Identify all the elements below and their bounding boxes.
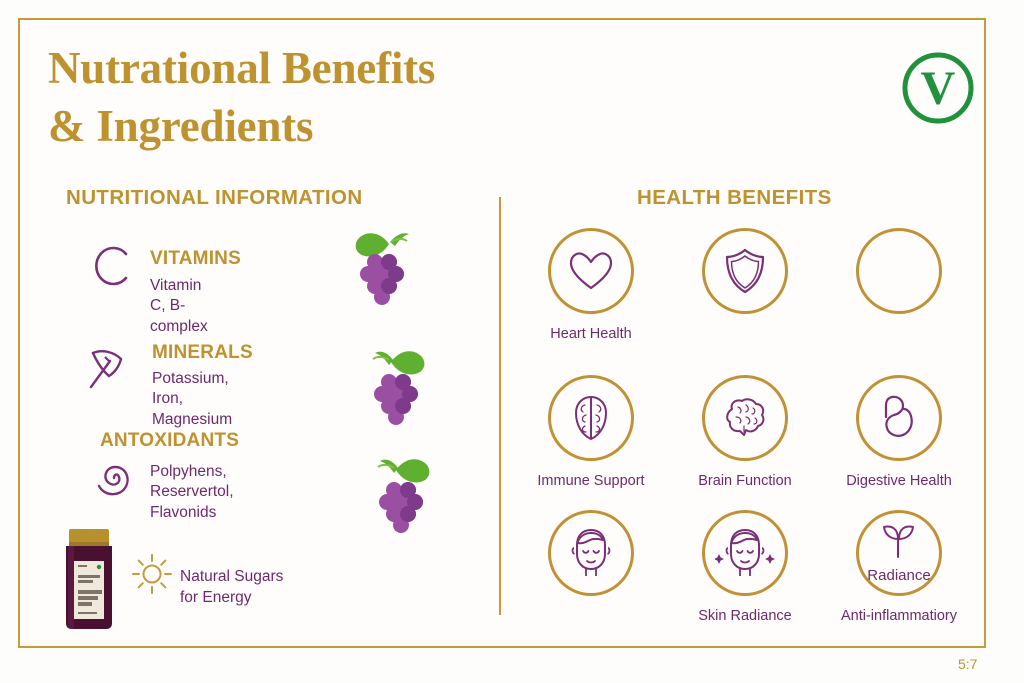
- brain-side-icon: [720, 395, 770, 441]
- benefit-immune-support[interactable]: Immune Support: [531, 375, 651, 489]
- benefit-circle: [702, 375, 788, 461]
- benefit-heart-health[interactable]: Heart Health: [531, 228, 651, 342]
- benefit-label: Anti-inflammatiory: [839, 608, 959, 624]
- spiral-icon: [88, 452, 140, 509]
- page-title-line-1: Nutrational Benefits: [48, 40, 568, 98]
- benefit-label: Immune Support: [531, 473, 651, 489]
- nutritional-information-heading: NUTRITIONAL INFORMATION: [66, 186, 363, 210]
- benefit-label: Heart Health: [531, 326, 651, 342]
- grape-cluster-icon: [363, 340, 435, 431]
- stomach-icon: [878, 393, 920, 443]
- benefit-brain-function[interactable]: Brain Function: [685, 375, 805, 489]
- benefit-inner-label: Radiance: [859, 567, 939, 584]
- benefit-skin-radiance[interactable]: Skin Radiance: [685, 510, 805, 624]
- aspect-ratio-label: 5:7: [958, 656, 977, 672]
- benefit-label: Digestive Health: [839, 473, 959, 489]
- vegan-logo: V: [898, 48, 978, 128]
- benefit-label: Brain Function: [685, 473, 805, 489]
- column-divider: [499, 197, 501, 615]
- leaf-sprout-icon: [879, 521, 919, 559]
- nutrition-desc-minerals: Potassium, Iron, Magnesium: [152, 369, 232, 430]
- benefit-shield[interactable]: [685, 228, 805, 326]
- page-title: Nutrational Benefits & Ingredients: [48, 40, 568, 155]
- grape-cluster-icon: [345, 222, 417, 313]
- benefit-empty[interactable]: [839, 228, 959, 326]
- sun-icon: [130, 552, 174, 601]
- benefit-circle: [548, 375, 634, 461]
- nutrition-title-vitamins: VITAMINS: [150, 248, 241, 270]
- slide-canvas: Nutrational Benefits & Ingredients V NUT…: [0, 0, 1024, 683]
- benefit-label: Skin Radiance: [685, 608, 805, 624]
- benefit-digestive-health[interactable]: Digestive Health: [839, 375, 959, 489]
- benefit-circle: Radiance: [856, 510, 942, 596]
- shield-icon: [723, 247, 767, 295]
- benefit-face[interactable]: [531, 510, 651, 608]
- benefit-anti-inflammatory[interactable]: Radiance Anti-inflammatiory: [839, 510, 959, 624]
- natural-sugars-label: Natural Sugars for Energy: [180, 566, 283, 608]
- letter-c-icon: [88, 240, 140, 297]
- nutrition-title-minerals: MINERALS: [152, 342, 253, 364]
- benefit-circle: [702, 228, 788, 314]
- benefit-circle: [702, 510, 788, 596]
- grape-cluster-icon: [368, 448, 440, 539]
- nutrition-desc-antoxidants: Polpyhens, Reservertol, Flavonids: [150, 462, 234, 523]
- heart-icon: [568, 250, 614, 292]
- face-icon: [568, 526, 614, 580]
- benefit-circle: [856, 375, 942, 461]
- pickaxe-icon: [80, 340, 138, 403]
- face-sparkle-icon: [715, 526, 775, 580]
- nutrition-title-antoxidants: ANTOXIDANTS: [100, 430, 239, 452]
- nutrition-desc-vitamins: Vitamin C, B-complex: [150, 276, 208, 337]
- benefit-circle: [856, 228, 942, 314]
- page-title-line-2: & Ingredients: [48, 98, 568, 156]
- health-benefits-heading: HEALTH BENEFITS: [637, 186, 832, 210]
- benefit-circle: [548, 510, 634, 596]
- svg-text:V: V: [921, 62, 956, 115]
- benefit-circle: [548, 228, 634, 314]
- supplement-bottle: [52, 527, 126, 636]
- brain-top-icon: [569, 393, 613, 443]
